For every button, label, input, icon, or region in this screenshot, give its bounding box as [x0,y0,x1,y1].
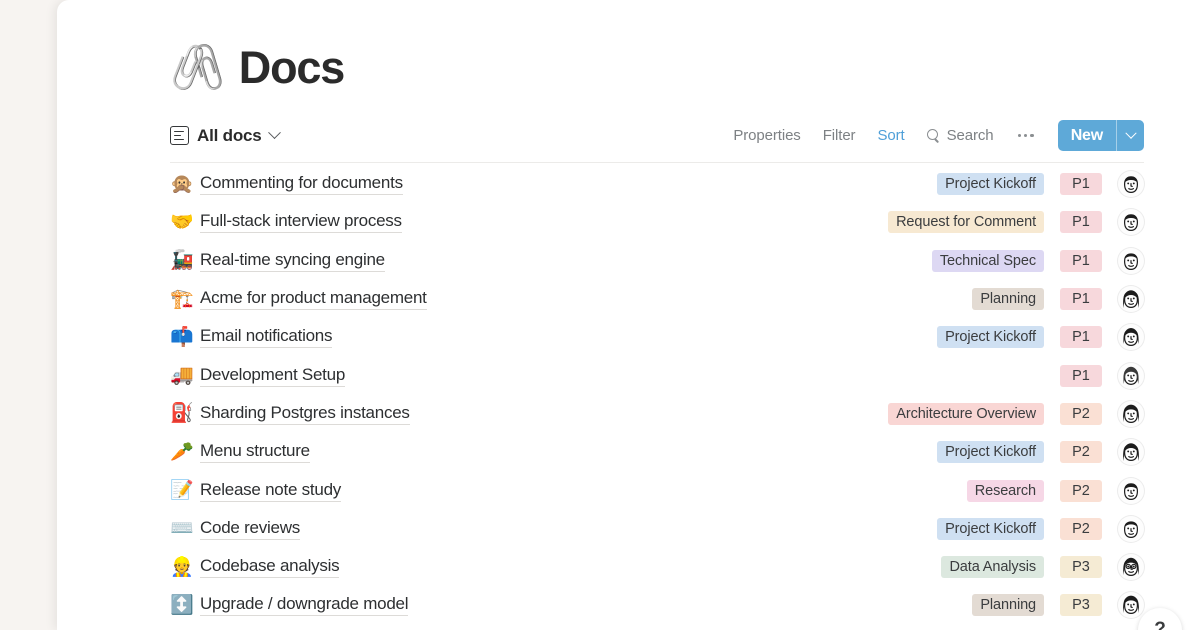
new-button-dropdown[interactable] [1116,120,1144,151]
document-tag[interactable]: Planning [972,288,1044,310]
fuel-pump-emoji: ⛽ [170,404,200,423]
page-title-text: Docs [239,42,344,94]
document-title-link[interactable]: Release note study [200,480,341,502]
carrot-emoji: 🥕 [170,443,200,462]
priority-badge[interactable]: P3 [1060,556,1102,578]
new-button-label: New [1058,127,1116,145]
avatar[interactable] [1118,324,1144,350]
document-tag[interactable]: Project Kickoff [937,326,1044,348]
list-view-icon [170,126,189,145]
document-tag[interactable]: Technical Spec [932,250,1044,272]
document-tag[interactable]: Project Kickoff [937,441,1044,463]
document-tag[interactable]: Project Kickoff [937,173,1044,195]
search-label: Search [947,127,994,144]
building-construction-emoji: 🏗️ [170,290,200,309]
page-title: 🖇️ Docs [170,0,1144,94]
document-title-link[interactable]: Sharding Postgres instances [200,403,410,425]
document-title-link[interactable]: Acme for product management [200,288,427,310]
document-row[interactable]: 🚚Development SetupP1 [170,356,1144,394]
avatar[interactable] [1118,171,1144,197]
mailbox-emoji: 📫 [170,328,200,347]
priority-badge[interactable]: P2 [1060,518,1102,540]
priority-badge[interactable]: P1 [1060,288,1102,310]
avatar[interactable] [1118,439,1144,465]
avatar[interactable] [1118,286,1144,312]
avatar[interactable] [1118,401,1144,427]
priority-badge[interactable]: P2 [1060,480,1102,502]
document-row[interactable]: 👷Codebase analysisData AnalysisP3 [170,548,1144,586]
app-viewport: 🖇️ Docs All docs Properties Filter Sort … [0,0,1200,630]
avatar[interactable] [1118,209,1144,235]
document-row[interactable]: ⛽Sharding Postgres instancesArchitecture… [170,395,1144,433]
document-row[interactable]: 📝Release note studyResearchP2 [170,471,1144,509]
avatar[interactable] [1118,554,1144,580]
document-row[interactable]: 🙊Commenting for documentsProject Kickoff… [170,165,1144,203]
up-down-arrow-emoji: ↕️ [170,596,200,615]
document-title-link[interactable]: Codebase analysis [200,556,339,578]
document-tag[interactable]: Data Analysis [941,556,1044,578]
document-tag[interactable]: Project Kickoff [937,518,1044,540]
filter-button[interactable]: Filter [823,127,856,144]
priority-badge[interactable]: P1 [1060,326,1102,348]
document-row[interactable]: 📫Email notificationsProject KickoffP1 [170,318,1144,356]
priority-badge[interactable]: P1 [1060,365,1102,387]
priority-badge[interactable]: P3 [1060,594,1102,616]
ellipsis-icon[interactable] [1016,134,1036,137]
document-title-link[interactable]: Development Setup [200,365,345,387]
toolbar: Properties Filter Sort Search New [733,120,1144,151]
priority-badge[interactable]: P1 [1060,173,1102,195]
document-row[interactable]: 🤝Full-stack interview processRequest for… [170,203,1144,241]
document-title-link[interactable]: Commenting for documents [200,173,403,195]
view-selector-all-docs[interactable]: All docs [170,126,279,146]
document-row[interactable]: ↕️Upgrade / downgrade modelPlanningP3 [170,586,1144,624]
new-button[interactable]: New [1058,120,1144,151]
avatar[interactable] [1118,363,1144,389]
delivery-truck-emoji: 🚚 [170,366,200,385]
document-tag[interactable]: Architecture Overview [888,403,1044,425]
avatar[interactable] [1118,516,1144,542]
properties-button[interactable]: Properties [733,127,800,144]
avatar[interactable] [1118,248,1144,274]
priority-badge[interactable]: P1 [1060,250,1102,272]
construction-worker-emoji: 👷 [170,558,200,577]
document-title-link[interactable]: Full-stack interview process [200,211,402,233]
document-tag[interactable]: Planning [972,594,1044,616]
priority-badge[interactable]: P1 [1060,211,1102,233]
document-title-link[interactable]: Email notifications [200,326,332,348]
avatar[interactable] [1118,478,1144,504]
paperclip-emoji: 🖇️ [170,46,225,90]
document-title-link[interactable]: Menu structure [200,441,310,463]
chevron-down-icon [1125,127,1136,138]
handshake-emoji: 🤝 [170,213,200,232]
document-row[interactable]: ⌨️Code reviewsProject KickoffP2 [170,510,1144,548]
priority-badge[interactable]: P2 [1060,403,1102,425]
document-tag[interactable]: Request for Comment [888,211,1044,233]
sort-button[interactable]: Sort [877,127,904,144]
avatar[interactable] [1118,592,1144,618]
priority-badge[interactable]: P2 [1060,441,1102,463]
document-title-link[interactable]: Upgrade / downgrade model [200,594,408,616]
memo-emoji: 📝 [170,481,200,500]
locomotive-emoji: 🚂 [170,251,200,270]
document-tag[interactable]: Research [967,480,1044,502]
document-title-link[interactable]: Code reviews [200,518,300,540]
document-row[interactable]: 🏗️Acme for product managementPlanningP1 [170,280,1144,318]
view-selector-label: All docs [197,126,262,146]
document-row[interactable]: 🚂Real-time syncing engineTechnical SpecP… [170,242,1144,280]
chevron-down-icon [268,126,281,139]
docs-page-card: 🖇️ Docs All docs Properties Filter Sort … [57,0,1200,630]
document-row[interactable]: 🥕Menu structureProject KickoffP2 [170,433,1144,471]
document-list: 🙊Commenting for documentsProject Kickoff… [170,165,1144,625]
speak-no-evil-monkey-emoji: 🙊 [170,175,200,194]
search-button[interactable]: Search [927,127,994,144]
search-icon [927,129,940,142]
control-bar: All docs Properties Filter Sort Search N… [170,120,1144,163]
keyboard-emoji: ⌨️ [170,519,200,538]
document-title-link[interactable]: Real-time syncing engine [200,250,385,272]
